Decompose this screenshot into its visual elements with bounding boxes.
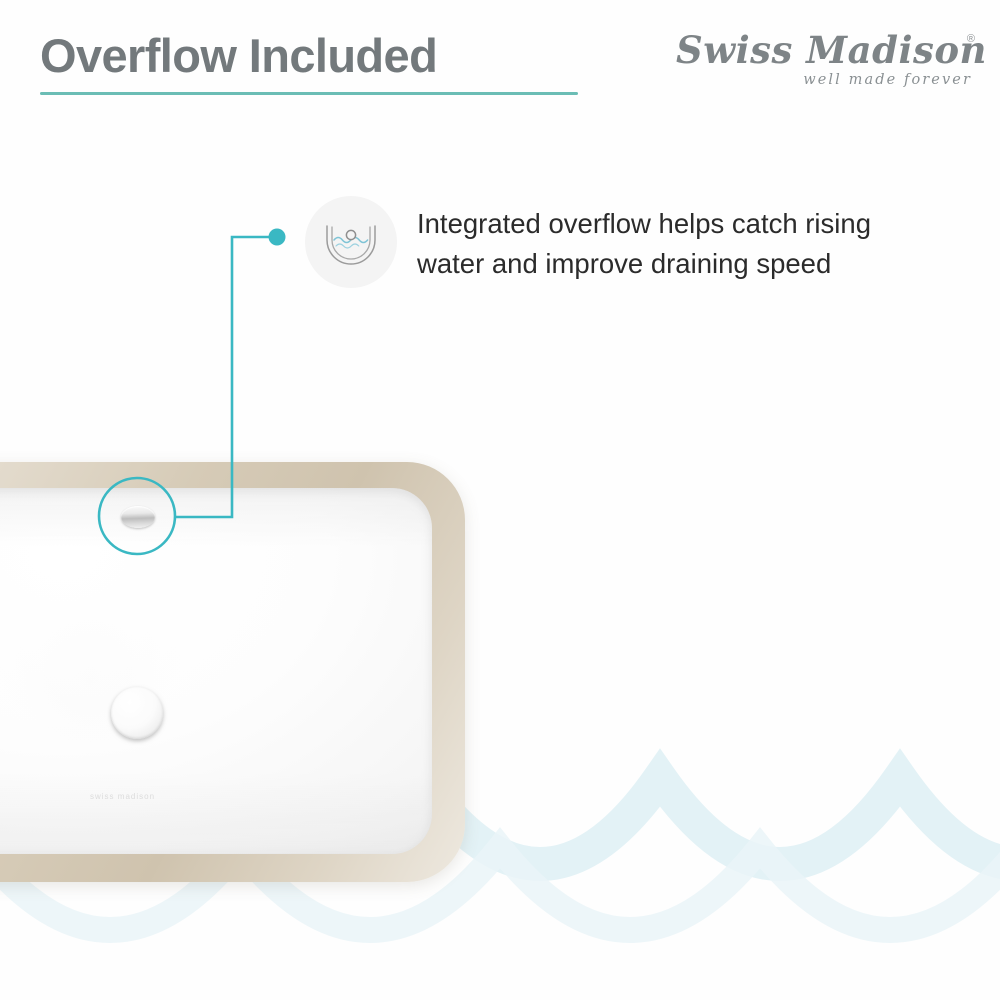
brand-logo: Swiss Madison ® well made forever (676, 28, 976, 92)
brand-tagline: well made forever (803, 72, 972, 88)
basin-gloss-highlight (0, 582, 180, 782)
title-underline-rule (40, 92, 578, 95)
overflow-basin-icon (305, 196, 397, 288)
brand-name: Swiss Madison (676, 28, 976, 72)
basin-brand-etch: swiss madison (90, 792, 155, 801)
overflow-hole (121, 506, 155, 528)
feature-description-line-2: water and improve draining speed (417, 244, 977, 284)
feature-description: Integrated overflow helps catch rising w… (417, 204, 977, 284)
marketing-infographic-canvas: Overflow Included Swiss Madison ® well m… (0, 0, 1000, 1000)
page-header: Overflow Included (40, 28, 578, 95)
feature-description-line-1: Integrated overflow helps catch rising (417, 204, 977, 244)
callout-anchor-dot (269, 229, 286, 246)
page-title: Overflow Included (40, 28, 578, 84)
undermount-rectangular-sink-photo: swiss madison (0, 462, 465, 882)
registered-trademark-icon: ® (967, 33, 975, 45)
center-drain (111, 687, 163, 739)
